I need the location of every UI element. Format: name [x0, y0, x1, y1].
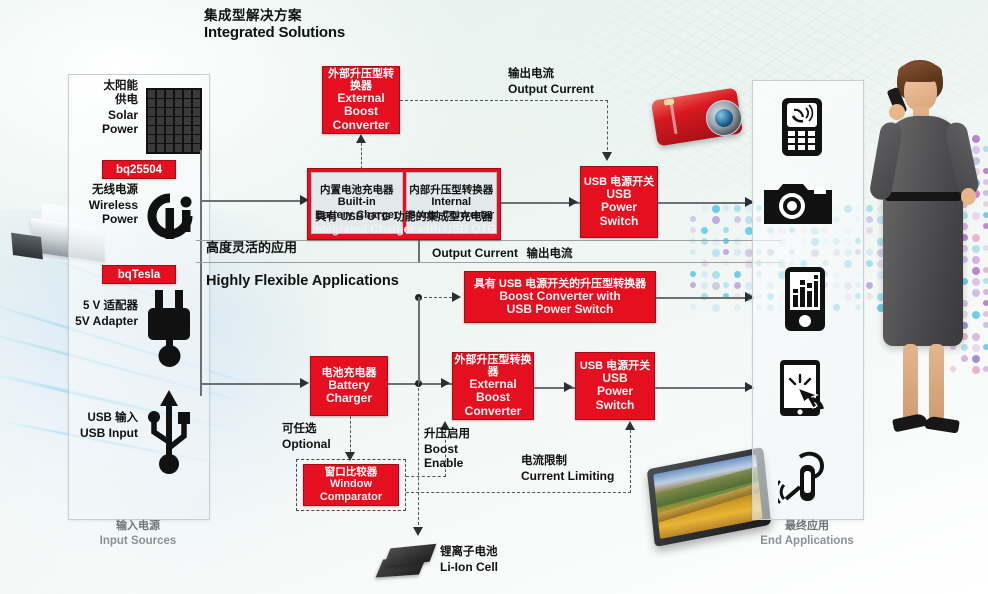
arrow-into-battery-charger — [300, 378, 309, 388]
block-external-boost-bottom-cn: 外部升压型转换器 — [453, 354, 533, 378]
source-label-usb-en: USB Input — [70, 426, 138, 440]
annotation-output-current-mid-en: Output Current — [432, 246, 518, 260]
annotation-output-current-mid-cn: 输出电流 — [526, 248, 572, 260]
block-external-boost-bottom-en-3: Converter — [465, 405, 522, 418]
bluetooth-headset-icon — [778, 447, 836, 509]
annotation-current-limiting: 电流限制 Current Limiting — [521, 455, 614, 483]
annotation-current-limiting-en: Current Limiting — [521, 469, 614, 483]
block-battery-charger[interactable]: 电池充电器 Battery Charger — [310, 356, 388, 416]
section-label-flexible-en: Highly Flexible Applications — [206, 272, 399, 290]
block-boost-usb-sw-en-1: Boost Converter with — [499, 290, 620, 303]
tablet-touch-icon — [778, 358, 838, 420]
decorative-dot — [866, 293, 873, 300]
decorative-dot — [983, 366, 988, 372]
integrated-charger-footer: 具有 USB OTG 功能的集成型充电器 Integrated Charger … — [308, 211, 500, 237]
dashed-wire-external-boost-to-output-current — [400, 100, 608, 101]
charger-cell-right-cn: 内部升压型转换器 — [409, 185, 493, 197]
source-label-solar-cn-1: 太阳能 — [76, 80, 138, 94]
annotation-li-ion-cell: 锂离子电池 Li-Ion Cell — [440, 546, 498, 574]
arrow-down-into-usb-switch-top — [602, 152, 612, 161]
decorative-dot — [983, 146, 988, 152]
decorative-dot — [866, 260, 873, 267]
end-applications-caption: 最终应用 End Applications — [707, 520, 907, 548]
block-window-comparator-cn: 窗口比较器 — [325, 467, 378, 479]
chip-bqtesla[interactable]: bqTesla — [102, 265, 176, 284]
decorative-dot — [983, 212, 988, 218]
feature-phone-icon — [778, 96, 826, 158]
solar-panel-icon — [146, 88, 202, 154]
section-label-flexible-cn: 高度灵活的应用 — [206, 240, 297, 256]
decorative-dot — [712, 304, 720, 312]
decorative-dot — [734, 205, 741, 212]
woman-on-phone-photo — [877, 60, 977, 440]
source-label-5v-adapter: 5 V 适配器 5V Adapter — [70, 300, 138, 328]
decorative-dot — [690, 304, 696, 310]
decorative-dot — [723, 249, 729, 255]
decorative-dot — [723, 282, 729, 288]
annotation-boost-enable: 升压启用 Boost Enable — [424, 428, 470, 471]
page-title-cn: 集成型解决方案 — [204, 8, 345, 24]
arrow-into-external-boost-bottom — [441, 378, 450, 388]
block-usb-power-switch-bottom[interactable]: USB 电源开关 USB Power Switch — [575, 352, 655, 420]
dashed-wire-comparator-boost-enable — [406, 476, 446, 477]
decorative-dot — [734, 304, 741, 311]
annotation-li-ion-cell-en: Li-Ion Cell — [440, 560, 498, 574]
block-usb-switch-top-en-3: Switch — [600, 215, 639, 228]
block-external-boost-top-en-1: External — [337, 92, 384, 105]
annotation-output-current-top-en: Output Current — [508, 82, 594, 96]
block-usb-switch-bottom-en-2: Power — [597, 385, 633, 398]
annotation-output-current-top-cn: 输出电流 — [508, 68, 594, 82]
arrow-into-boost-usb-sw — [452, 292, 461, 302]
decorative-dot — [866, 205, 873, 212]
arrow-down-to-li-ion-cell — [413, 527, 423, 536]
usb-icon — [144, 390, 196, 480]
dashed-wire-current-limiting-up — [630, 430, 631, 493]
source-label-wireless-en-2: Power — [72, 212, 138, 226]
block-boost-converter-with-usb-power-switch[interactable]: 具有 USB 电源开关的升压型转换器 Boost Converter with … — [464, 271, 656, 323]
diagram-canvas: 集成型解决方案 Integrated Solutions 太阳能 供电 Sola… — [0, 0, 988, 594]
charger-cell-left-cn: 内置电池充电器 — [320, 185, 394, 197]
decorative-dot — [712, 282, 720, 290]
section-divider-vertical — [418, 240, 420, 262]
page-title-en: Integrated Solutions — [204, 24, 345, 42]
decorative-dot — [701, 271, 708, 278]
li-ion-cell-photo — [378, 542, 442, 582]
ac-plug-icon — [142, 290, 198, 368]
block-external-boost-top-en-3: Converter — [333, 119, 390, 132]
block-window-comparator-en-2: Comparator — [320, 491, 382, 503]
annotation-optional-en: Optional — [282, 437, 331, 451]
decorative-dot — [983, 289, 988, 295]
decorative-dot — [866, 216, 873, 223]
decorative-dot — [701, 227, 708, 234]
media-player-icon — [783, 265, 827, 333]
charger-cell-left-en-1: Built-in — [338, 196, 376, 208]
arrow-up-current-limiting — [625, 421, 635, 430]
decorative-dot — [983, 311, 988, 317]
annotation-optional: 可任选 Optional — [282, 423, 331, 451]
annotation-boost-enable-en-1: Boost — [424, 442, 470, 456]
annotation-output-current-mid: Output Current 输出电流 — [432, 243, 572, 262]
annotation-optional-cn: 可任选 — [282, 423, 331, 437]
decorative-dot — [734, 282, 741, 289]
wire-usb-switch-bottom-to-end-apps — [655, 387, 754, 389]
block-external-boost-top-cn: 外部升压型转换器 — [323, 68, 399, 92]
decorative-dot — [983, 267, 988, 273]
input-sources-caption: 输入电源 Input Sources — [38, 520, 238, 548]
decorative-dot — [701, 282, 708, 289]
source-label-adapter-en: 5V Adapter — [70, 314, 138, 328]
block-integrated-charger[interactable]: 内置电池充电器 Built-in Battery Charger 内部升压型转换… — [307, 168, 501, 240]
decorative-dot — [701, 205, 708, 212]
block-external-boost-bottom-en-2: Boost — [476, 391, 510, 404]
decorative-dot — [723, 227, 729, 233]
decorative-dot — [983, 322, 988, 328]
wire-bus-to-integrated-charger — [200, 200, 304, 202]
block-external-boost-bottom-en-1: External — [469, 378, 516, 391]
block-external-boost-top-en-2: Boost — [344, 105, 378, 118]
annotation-current-limiting-cn: 电流限制 — [521, 455, 614, 469]
block-boost-usb-sw-cn: 具有 USB 电源开关的升压型转换器 — [474, 278, 646, 290]
arrow-up-to-external-boost — [356, 134, 366, 143]
wire-junction-vertical-bottom — [418, 297, 420, 383]
source-label-solar-en-2: Power — [76, 122, 138, 136]
section-label-flexible-cn-text: 高度灵活的应用 — [206, 240, 297, 256]
decorative-dot — [712, 249, 720, 257]
chip-bq25504[interactable]: bq25504 — [102, 160, 176, 179]
decorative-dot — [983, 179, 988, 185]
wire-bus-to-battery-charger — [200, 383, 304, 385]
dashed-wire-output-current-down — [607, 100, 608, 150]
annotation-boost-enable-cn: 升压启用 — [424, 428, 470, 442]
decorative-dot — [712, 271, 720, 279]
block-battery-charger-cn: 电池充电器 — [322, 367, 377, 379]
block-usb-switch-bottom-en-3: Switch — [596, 399, 635, 412]
decorative-dot — [866, 249, 873, 256]
decorative-dot — [712, 216, 720, 224]
source-label-solar-cn-2: 供电 — [76, 94, 138, 108]
decorative-dot — [983, 223, 988, 229]
decorative-dot — [983, 245, 988, 251]
decorative-dot — [690, 249, 696, 255]
integrated-charger-footer-cn: 具有 USB OTG 功能的集成型充电器 — [308, 211, 500, 224]
input-sources-caption-cn: 输入电源 — [38, 520, 238, 534]
source-label-usb-input: USB 输入 USB Input — [70, 412, 138, 440]
chip-bqtesla-label: bqTesla — [118, 269, 161, 281]
input-sources-caption-en: Input Sources — [38, 534, 238, 548]
decorative-dot — [983, 300, 988, 306]
qi-wireless-icon — [140, 186, 200, 246]
block-battery-charger-en-1: Battery — [328, 379, 369, 392]
decorative-dot — [983, 344, 988, 350]
arrow-down-into-window-comparator — [345, 452, 355, 461]
source-label-solar-en-1: Solar — [76, 108, 138, 122]
decorative-dot — [983, 278, 988, 284]
decorative-dot — [983, 190, 988, 196]
source-label-wireless-power: 无线电源 Wireless Power — [72, 184, 138, 227]
decorative-dot — [983, 168, 988, 174]
block-usb-switch-top-en-1: USB — [606, 188, 631, 201]
source-label-solar-power: 太阳能 供电 Solar Power — [76, 80, 138, 136]
decorative-dot — [734, 216, 741, 223]
decorative-dot — [734, 271, 741, 278]
block-window-comparator[interactable]: 窗口比较器 Window Comparator — [303, 464, 399, 506]
arrow-into-usb-switch-bottom — [564, 382, 573, 392]
block-usb-switch-top-en-2: Power — [601, 201, 637, 214]
source-label-wireless-en-1: Wireless — [72, 198, 138, 212]
end-applications-caption-cn: 最终应用 — [707, 520, 907, 534]
source-label-adapter-cn: 5 V 适配器 — [70, 300, 138, 314]
integrated-charger-footer-en: Integrated Charger with USB OTG — [308, 224, 500, 237]
annotation-li-ion-cell-cn: 锂离子电池 — [440, 546, 498, 560]
block-external-boost-converter-bottom[interactable]: 外部升压型转换器 External Boost Converter — [452, 352, 534, 420]
decorative-dot — [690, 282, 696, 288]
annotation-boost-enable-en-2: Enable — [424, 456, 470, 470]
dashed-wire-battery-charger-to-comparator — [350, 416, 351, 452]
wire-boost-usb-sw-to-end-apps — [656, 297, 754, 299]
decorative-dot — [690, 227, 696, 233]
block-usb-switch-bottom-en-1: USB — [602, 372, 627, 385]
charger-cell-right-en-1: Internal — [431, 196, 471, 208]
dashed-wire-comparator-current-limiting — [406, 492, 631, 493]
arrow-into-usb-switch-top — [569, 197, 578, 207]
chip-bq25504-label: bq25504 — [116, 164, 162, 176]
decorative-dot — [866, 282, 873, 289]
source-label-wireless-cn: 无线电源 — [72, 184, 138, 198]
wire-usb-switch-top-to-end-apps — [658, 202, 754, 204]
end-applications-caption-en: End Applications — [707, 534, 907, 548]
annotation-output-current-top: 输出电流 Output Current — [508, 68, 594, 96]
decorative-dot — [690, 216, 696, 222]
section-label-flexible-en-text: Highly Flexible Applications — [206, 272, 399, 290]
input-bus-vertical — [200, 150, 202, 396]
decorative-dot — [734, 249, 741, 256]
digital-camera-icon — [762, 178, 834, 228]
decorative-dot — [690, 271, 696, 277]
decorative-dot — [723, 205, 729, 211]
dashed-wire-to-li-ion-cell — [418, 383, 419, 525]
source-label-usb-cn: USB 输入 — [70, 412, 138, 426]
block-usb-power-switch-top[interactable]: USB 电源开关 USB Power Switch — [580, 166, 658, 238]
digital-camera-photo — [654, 88, 744, 148]
decorative-dot — [712, 205, 720, 213]
decorative-dot — [983, 201, 988, 207]
page-title: 集成型解决方案 Integrated Solutions — [204, 8, 345, 42]
block-boost-usb-sw-en-2: USB Power Switch — [507, 303, 614, 316]
decorative-dot — [866, 227, 873, 234]
block-external-boost-converter-top[interactable]: 外部升压型转换器 External Boost Converter — [322, 66, 400, 134]
dashed-wire-charger-to-external-boost — [361, 143, 362, 169]
block-battery-charger-en-2: Charger — [326, 392, 372, 405]
block-window-comparator-en-1: Window — [330, 478, 372, 490]
